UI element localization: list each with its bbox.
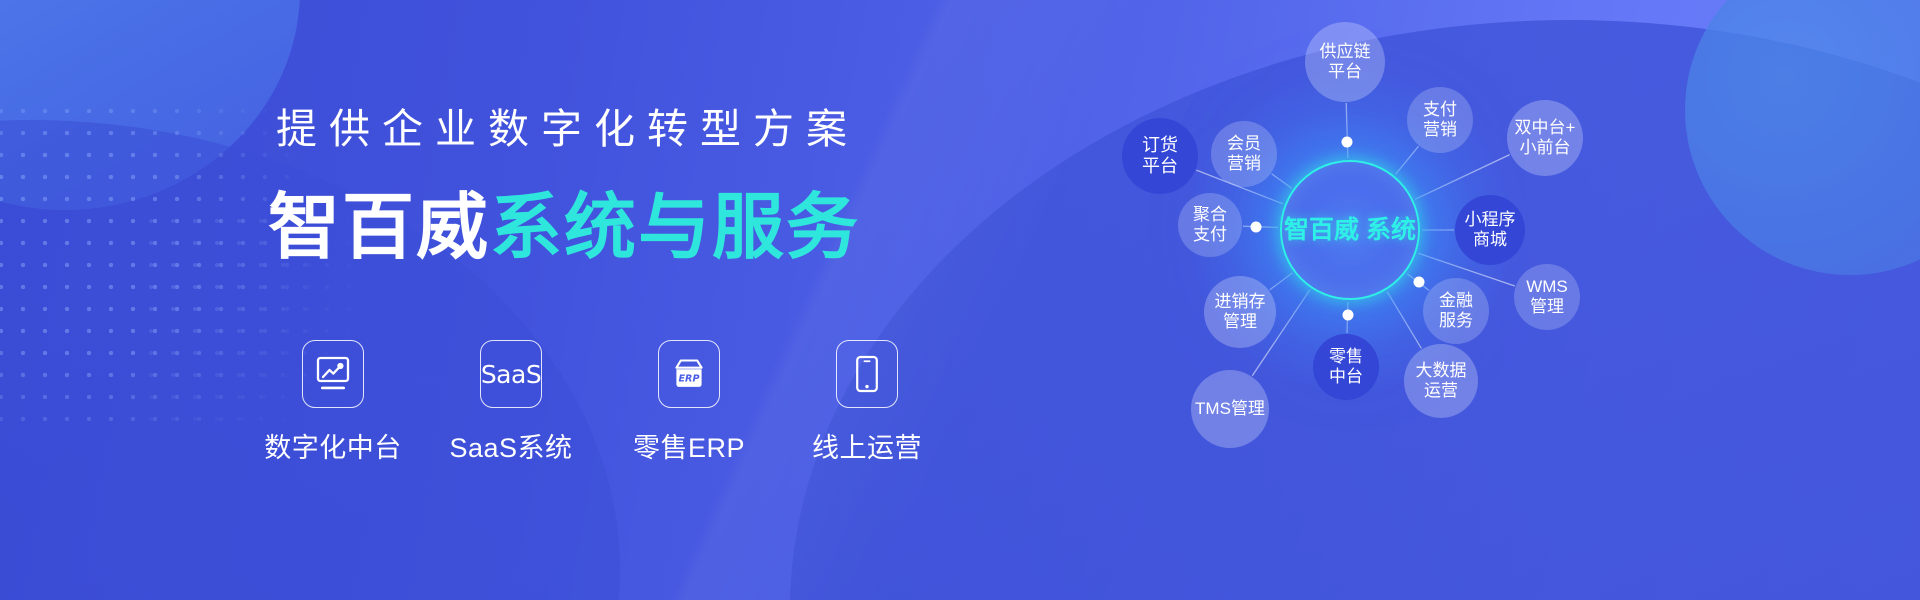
feature-label: SaaS系统 xyxy=(449,431,572,465)
diagram-node-label-line1: 聚合 xyxy=(1193,205,1227,225)
diagram-node-label: WMS管理 xyxy=(1526,277,1568,317)
diagram-node-retail-midend[interactable]: 零售中台 xyxy=(1313,334,1379,400)
diagram-node-label-line1: 零售 xyxy=(1329,347,1363,367)
connector-dual-midend xyxy=(1415,155,1510,200)
diagram-node-label-line1: 大数据 xyxy=(1416,361,1467,381)
diagram-node-label-line2: 管理 xyxy=(1526,297,1568,317)
diagram-node-label-line1: 供应链 xyxy=(1320,42,1371,62)
feature-item-retail-erp[interactable]: ERP 零售ERP xyxy=(624,340,754,465)
page-title: 智百威系统与服务 xyxy=(268,185,860,271)
diagram-node-label: 会员营销 xyxy=(1227,134,1261,174)
diagram-node-label: 小程序商城 xyxy=(1465,210,1516,250)
feature-icon-box: SaaS xyxy=(480,340,542,408)
feature-icon-box xyxy=(836,340,898,408)
diagram-node-label-line2: 平台 xyxy=(1142,156,1178,177)
hub-label-line2: 系统 xyxy=(1366,216,1416,244)
connector-dot-aggregate-payment xyxy=(1251,221,1262,232)
eyebrow-text: 提供企业数字化转型方案 xyxy=(276,103,859,155)
feature-label: 线上运营 xyxy=(812,431,922,465)
diagram-node-member-marketing[interactable]: 会员营销 xyxy=(1211,121,1277,187)
diagram-node-payment-marketing[interactable]: 支付营销 xyxy=(1407,87,1473,153)
feature-label: 零售ERP xyxy=(633,431,745,465)
connector-dot-supply-chain-platform xyxy=(1342,136,1353,147)
diagram-node-label-line2: 小前台 xyxy=(1515,138,1576,158)
svg-text:ERP: ERP xyxy=(679,373,700,384)
connector-payment-marketing xyxy=(1396,146,1419,174)
promo-banner: 提供企业数字化转型方案 智百威系统与服务 数字化中台 SaaS xyxy=(0,0,1920,600)
diagram-node-big-data-operations[interactable]: 大数据运营 xyxy=(1404,344,1478,418)
diagram-node-label: 双中台+小前台 xyxy=(1515,118,1576,158)
diagram-node-label-line2: 营销 xyxy=(1423,120,1457,140)
diagram-node-label: 聚合支付 xyxy=(1193,205,1227,245)
chart-image-icon xyxy=(316,356,350,392)
diagram-node-dual-midend[interactable]: 双中台+小前台 xyxy=(1507,100,1583,176)
connector-big-data-operations xyxy=(1387,292,1421,349)
diagram-node-label: 订货平台 xyxy=(1142,135,1178,177)
diagram-node-label-line1: 进销存 xyxy=(1215,292,1266,312)
diagram-node-label-line2: 营销 xyxy=(1227,154,1261,174)
hub-label: 智百威 系统 xyxy=(1284,215,1416,246)
feature-item-saas[interactable]: SaaS SaaS系统 xyxy=(446,340,576,465)
diagram-node-aggregate-payment[interactable]: 聚合支付 xyxy=(1178,193,1242,257)
page-title-accent: 系统与服务 xyxy=(490,188,860,268)
connector-dot-retail-midend xyxy=(1342,310,1353,321)
diagram-node-label: TMS管理 xyxy=(1195,399,1265,419)
ecosystem-diagram: 智百威 系统 供应链平台订货平台会员营销支付营销双中台+小前台聚合支付小程序商城… xyxy=(1020,0,1920,600)
diagram-node-label-line1: 支付 xyxy=(1423,100,1457,120)
feature-icon-box: ERP xyxy=(658,340,720,408)
erp-box-icon: ERP xyxy=(671,356,707,392)
saas-text-icon: SaaS xyxy=(481,360,541,389)
hub-node-zhibaiwei-system[interactable]: 智百威 系统 xyxy=(1280,160,1420,300)
diagram-node-wms-management[interactable]: WMS管理 xyxy=(1514,264,1580,330)
diagram-node-label-line1: 小程序 xyxy=(1465,210,1516,230)
diagram-node-label-line1: 会员 xyxy=(1227,134,1261,154)
diagram-node-order-platform[interactable]: 订货平台 xyxy=(1122,118,1198,194)
diagram-node-label-line2: 管理 xyxy=(1215,312,1266,332)
diagram-node-mini-program-mall[interactable]: 小程序商城 xyxy=(1455,195,1525,265)
diagram-node-label-line2: 支付 xyxy=(1193,225,1227,245)
diagram-node-label-line1: 金融 xyxy=(1439,291,1473,311)
diagram-node-label-line1: 订货 xyxy=(1142,135,1178,156)
diagram-node-label-line1: 双中台+ xyxy=(1515,118,1576,138)
diagram-node-label-line2: 中台 xyxy=(1329,367,1363,387)
diagram-node-label: 大数据运营 xyxy=(1416,361,1467,401)
diagram-node-label-line2: 运营 xyxy=(1416,381,1467,401)
feature-icon-box xyxy=(302,340,364,408)
feature-item-online-operations[interactable]: 线上运营 xyxy=(802,340,932,465)
diagram-node-label-line2: 平台 xyxy=(1320,62,1371,82)
hub-label-line1: 智百威 xyxy=(1284,216,1359,244)
diagram-node-label: 供应链平台 xyxy=(1320,42,1371,82)
connector-dot-financial-services xyxy=(1413,277,1424,288)
connector-inventory-management xyxy=(1270,273,1293,290)
headline-block: 提供企业数字化转型方案 智百威系统与服务 数字化中台 SaaS xyxy=(0,0,1020,600)
diagram-node-label-line2: 服务 xyxy=(1439,311,1473,331)
diagram-node-supply-chain-platform[interactable]: 供应链平台 xyxy=(1305,22,1385,102)
diagram-node-label: 零售中台 xyxy=(1329,347,1363,387)
page-title-primary: 智百威 xyxy=(268,188,490,268)
diagram-node-label-line1: TMS管理 xyxy=(1195,399,1265,419)
diagram-node-label-line2: 商城 xyxy=(1465,230,1516,250)
diagram-node-financial-services[interactable]: 金融服务 xyxy=(1423,278,1489,344)
connector-supply-chain-platform xyxy=(1346,103,1348,158)
diagram-node-label: 支付营销 xyxy=(1423,100,1457,140)
feature-item-digital-midend[interactable]: 数字化中台 xyxy=(268,340,398,465)
feature-list: 数字化中台 SaaS SaaS系统 ERP 零售ERP xyxy=(268,340,932,465)
feature-label: 数字化中台 xyxy=(264,431,402,465)
diagram-node-inventory-management[interactable]: 进销存管理 xyxy=(1204,276,1276,348)
diagram-node-label: 金融服务 xyxy=(1439,291,1473,331)
diagram-node-label: 进销存管理 xyxy=(1215,292,1266,332)
diagram-node-tms-management[interactable]: TMS管理 xyxy=(1191,370,1269,448)
connector-member-marketing xyxy=(1272,174,1292,188)
diagram-node-label-line1: WMS xyxy=(1526,277,1568,297)
mobile-phone-icon xyxy=(853,355,881,393)
